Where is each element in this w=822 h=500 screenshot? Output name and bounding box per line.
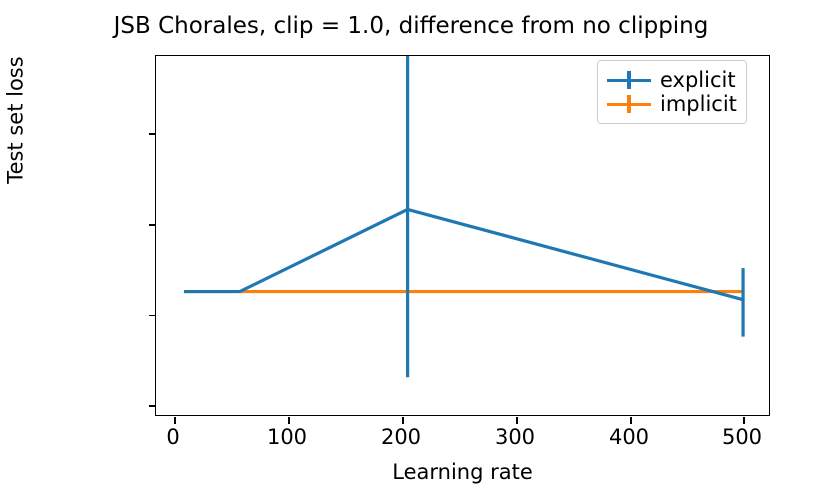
legend-vbar-implicit bbox=[627, 95, 630, 113]
x-tick-label-0: 0 bbox=[166, 425, 179, 449]
x-tick-label-3: 300 bbox=[495, 425, 535, 449]
x-tick-label-1: 100 bbox=[267, 425, 307, 449]
x-tick-mark-3 bbox=[516, 417, 518, 424]
legend-item-explicit[interactable]: explicit bbox=[607, 68, 737, 92]
y-tick-mark-0 bbox=[149, 133, 156, 135]
y-axis-label: Test set loss bbox=[4, 56, 28, 183]
errorbar-marker-icon bbox=[607, 93, 651, 115]
legend-vbar-explicit bbox=[627, 71, 630, 89]
legend-label-implicit: implicit bbox=[660, 93, 737, 115]
matplotlib-figure: JSB Chorales, clip = 1.0, difference fro… bbox=[0, 0, 822, 500]
x-tick-mark-1 bbox=[288, 417, 290, 424]
x-tick-mark-4 bbox=[630, 417, 632, 424]
x-tick-mark-2 bbox=[402, 417, 404, 424]
y-tick-mark-2 bbox=[149, 315, 156, 317]
x-tick-label-4: 400 bbox=[609, 425, 649, 449]
x-tick-mark-0 bbox=[174, 417, 176, 424]
chart-title: JSB Chorales, clip = 1.0, difference fro… bbox=[0, 13, 822, 39]
x-tick-mark-5 bbox=[743, 417, 745, 424]
legend[interactable]: explicit implicit bbox=[597, 60, 747, 124]
x-tick-label-2: 200 bbox=[381, 425, 421, 449]
legend-label-explicit: explicit bbox=[660, 69, 736, 91]
x-axis-label: Learning rate bbox=[155, 460, 770, 484]
legend-item-implicit[interactable]: implicit bbox=[607, 92, 737, 116]
y-tick-mark-1 bbox=[149, 224, 156, 226]
x-tick-label-5: 500 bbox=[722, 425, 762, 449]
y-tick-mark-3 bbox=[149, 405, 156, 407]
line-explicit bbox=[184, 209, 743, 299]
errorbar-marker-icon bbox=[607, 69, 651, 91]
